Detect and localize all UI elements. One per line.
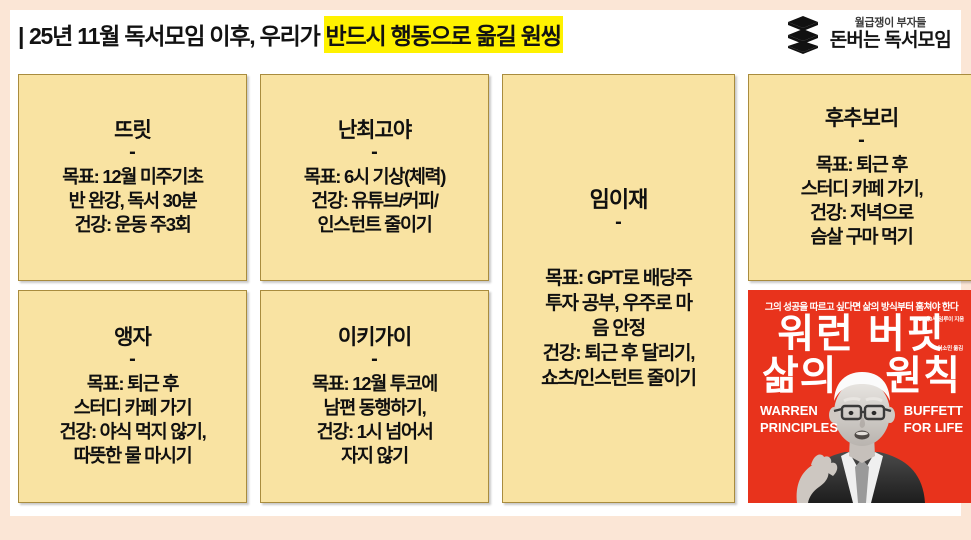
book-english-right-line1: BUFFETT — [904, 402, 963, 419]
goal-line: 반 완강, 독서 30분 — [62, 189, 203, 213]
member-goals: 목표: GPT로 배당주 투자 공부, 우주로 마 음 안정 건강: 퇴근 후 … — [541, 266, 696, 391]
goal-line: 목표: 12월 투코에 — [312, 372, 437, 396]
member-divider: - — [129, 142, 136, 162]
goal-line: 건강: 저녁으로 — [801, 201, 923, 225]
book-english-left-line2: PRINCIPLES — [760, 419, 838, 436]
member-goals: 목표: 6시 기상(체력) 건강: 유튜브/커피/ 인스턴트 줄이기 — [304, 165, 445, 237]
slide-content: | 25년 11월 독서모임 이후, 우리가 반드시 행동으로 옮길 원씽 — [10, 10, 961, 516]
goal-line: 목표: 12월 미주기초 — [62, 165, 203, 189]
goal-line: 음 안정 — [541, 316, 696, 341]
book-cover-warren-buffett: 그의 성공을 따르고 싶다면 삶의 방식부터 훔쳐야 한다 20대0사 임루이 … — [748, 290, 971, 503]
title-plain-text: 25년 11월 독서모임 이후, 우리가 — [29, 17, 320, 51]
member-divider: - — [129, 349, 136, 369]
goal-line: 따뜻한 물 마시기 — [60, 444, 206, 468]
title-highlighted-text: 반드시 행동으로 옮길 원씽 — [324, 16, 563, 53]
member-name: 임이재 — [590, 186, 648, 214]
goal-line: 건강: 1시 넘어서 — [312, 420, 437, 444]
stacked-books-icon — [786, 14, 820, 54]
member-goals: 목표: 12월 투코에 남편 동행하기, 건강: 1시 넘어서 자지 않기 — [312, 372, 437, 468]
member-goals: 목표: 퇴근 후 스터디 카페 가기 건강: 야식 먹지 않기, 따뜻한 물 마… — [60, 372, 206, 468]
member-divider: - — [615, 212, 622, 232]
member-card-tteurit[interactable]: 뜨릿 - 목표: 12월 미주기초 반 완강, 독서 30분 건강: 운동 주3… — [18, 74, 247, 281]
member-goals: 목표: 퇴근 후 스터디 카페 가기, 건강: 저녁으로 슴살 구마 먹기 — [801, 153, 923, 249]
slide-canvas: | 25년 11월 독서모임 이후, 우리가 반드시 행동으로 옮길 원씽 — [0, 0, 971, 540]
page-title: | 25년 11월 독서모임 이후, 우리가 반드시 행동으로 옮길 원씽 — [18, 16, 563, 53]
goal-line: 목표: 퇴근 후 — [60, 372, 206, 396]
goal-line: 목표: 퇴근 후 — [801, 153, 923, 177]
goal-line: 자지 않기 — [312, 444, 437, 468]
member-goals: 목표: 12월 미주기초 반 완강, 독서 30분 건강: 운동 주3회 — [62, 165, 203, 237]
goal-line: 쇼츠/인스턴트 줄이기 — [541, 366, 696, 391]
book-english-left: WARREN PRINCIPLES — [760, 402, 838, 436]
goal-line: 건강: 유튜브/커피/ — [304, 189, 445, 213]
member-card-ikigai[interactable]: 이키가이 - 목표: 12월 투코에 남편 동행하기, 건강: 1시 넘어서 자… — [260, 290, 489, 503]
goal-line: 건강: 퇴근 후 달리기, — [541, 341, 696, 366]
goal-line: 스터디 카페 가기, — [801, 177, 923, 201]
brand-logo-text: 월급쟁이 부자들 돈버는 독서모임 — [830, 17, 951, 51]
member-card-aengja[interactable]: 앵자 - 목표: 퇴근 후 스터디 카페 가기 건강: 야식 먹지 않기, 따뜻… — [18, 290, 247, 503]
title-bullet-bar: | — [18, 23, 24, 50]
brand-subtitle: 월급쟁이 부자들 — [855, 17, 927, 29]
goal-line: 슴살 구마 먹기 — [801, 225, 923, 249]
goal-line: 건강: 운동 주3회 — [62, 213, 203, 237]
member-divider: - — [858, 130, 865, 150]
member-card-grid: 뜨릿 - 목표: 12월 미주기초 반 완강, 독서 30분 건강: 운동 주3… — [18, 74, 953, 506]
member-divider: - — [371, 142, 378, 162]
book-english-right: BUFFETT FOR LIFE — [904, 402, 963, 436]
brand-logo: 월급쟁이 부자들 돈버는 독서모임 — [786, 14, 951, 54]
member-card-imijae[interactable]: 임이재 - 목표: GPT로 배당주 투자 공부, 우주로 마 음 안정 건강:… — [502, 74, 735, 503]
member-divider: - — [371, 349, 378, 369]
goal-line: 목표: 6시 기상(체력) — [304, 165, 445, 189]
member-card-huchubori[interactable]: 후추보리 - 목표: 퇴근 후 스터디 카페 가기, 건강: 저녁으로 슴살 구… — [748, 74, 971, 281]
book-english-left-line1: WARREN — [760, 402, 838, 419]
goal-line: 인스턴트 줄이기 — [304, 213, 445, 237]
goal-line: 남편 동행하기, — [312, 396, 437, 420]
goal-line: 투자 공부, 우주로 마 — [541, 291, 696, 316]
book-title-line1: 워런 버핏 — [748, 314, 971, 354]
slide-header: | 25년 11월 독서모임 이후, 우리가 반드시 행동으로 옮길 원씽 — [10, 10, 961, 72]
goal-line: 건강: 야식 먹지 않기, — [60, 420, 206, 444]
book-tagline: 그의 성공을 따르고 싶다면 삶의 방식부터 훔쳐야 한다 — [748, 299, 971, 313]
goal-line: 스터디 카페 가기 — [60, 396, 206, 420]
goal-line: 목표: GPT로 배당주 — [541, 266, 696, 291]
member-card-nanchoigoya[interactable]: 난최고야 - 목표: 6시 기상(체력) 건강: 유튜브/커피/ 인스턴트 줄이… — [260, 74, 489, 281]
brand-title: 돈버는 독서모임 — [830, 30, 951, 51]
book-english-right-line2: FOR LIFE — [904, 419, 963, 436]
